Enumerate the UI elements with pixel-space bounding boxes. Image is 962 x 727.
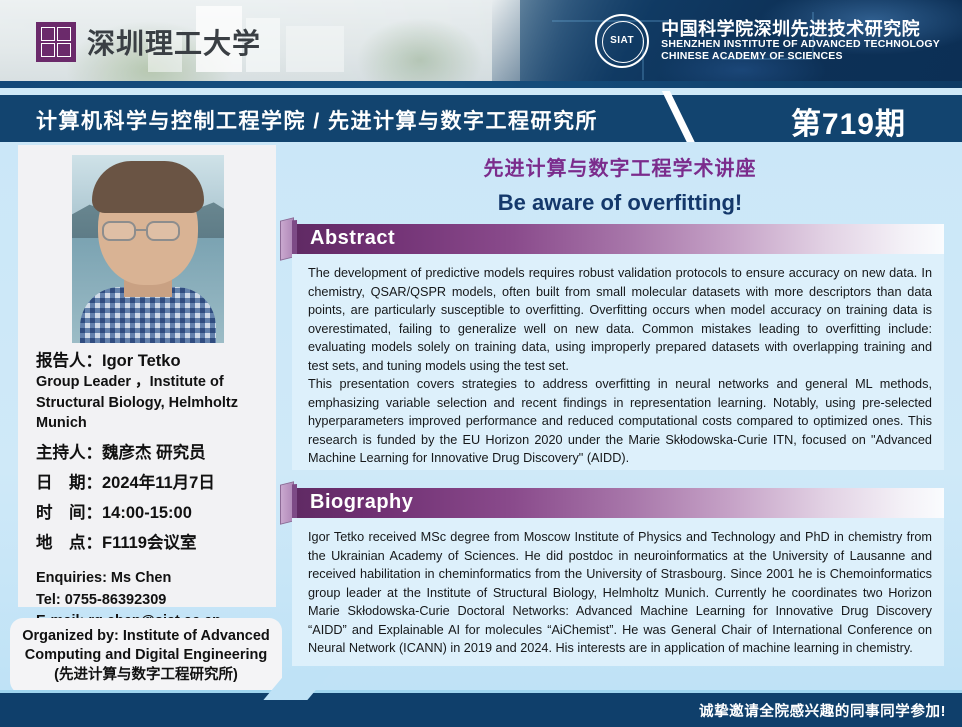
talk-title-en: Be aware of overfitting! [290,190,950,216]
seminar-poster: 深圳理工大学 SIAT 中国科学院深圳先进技术研究院 SHENZHEN INST… [0,0,962,727]
department-title-bar: 计算机科学与控制工程学院 / 先进计算与数字工程研究所 第719期 [0,95,962,142]
abstract-section-body: The development of predictive models req… [292,254,944,470]
department-name: 计算机科学与控制工程学院 / 先进计算与数字工程研究所 [36,105,598,135]
banner-bottom-rule [0,81,962,88]
siat-emblem-icon: SIAT [595,14,649,68]
speaker-info-panel: 报告人：Igor Tetko Group Leader ，Institute o… [18,145,276,607]
date-label: 日 期： [36,474,102,492]
biography-heading: Biography [310,491,413,514]
abstract-paragraph-1: The development of predictive models req… [308,264,932,375]
siat-logo: SIAT 中国科学院深圳先进技术研究院 SHENZHEN INSTITUTE O… [595,14,940,68]
institute-name-en-line2: CHINESE ACADEMY OF SCIENCES [661,51,940,63]
venue-label: 地 点： [36,534,102,552]
telephone-line: Tel: 0755-86392309 [36,590,266,611]
venue-value: F1119会议室 [102,534,196,552]
diagonal-separator [662,91,698,149]
abstract-paragraph-2: This presentation covers strategies to a… [308,375,932,468]
issue-number: 第719期 [791,99,906,143]
university-name: 深圳理工大学 [87,22,261,62]
speaker-label: 报告人： [36,352,102,370]
enquiries-line: Enquiries: Ms Chen [36,568,266,589]
organizer-line-1: Organized by: Institute of Advanced [22,627,270,646]
university-seal-icon [36,22,76,62]
organizer-box: Organized by: Institute of Advanced Comp… [10,618,282,694]
institute-name-cn: 中国科学院深圳先进技术研究院 [661,19,940,39]
speaker-affiliation: Group Leader ，Institute of Structural Bi… [36,372,266,434]
invitation-text: 诚挚邀请全院感兴趣的同事同学参加! [699,700,946,721]
biography-section-header: Biography [292,488,944,518]
date-value: 2024年11月7日 [102,474,215,492]
abstract-section-header: Abstract [292,224,944,254]
host-label: 主持人： [36,444,102,462]
footer-top-rule [0,690,962,693]
abstract-heading: Abstract [310,227,395,250]
talk-titles: 先进计算与数字工程学术讲座 Be aware of overfitting! [290,152,950,216]
organizer-line-2: Computing and Digital Engineering [25,646,267,665]
time-label: 时 间： [36,504,102,522]
speaker-details: 报告人：Igor Tetko Group Leader ，Institute o… [36,351,266,633]
top-banner: 深圳理工大学 SIAT 中国科学院深圳先进技术研究院 SHENZHEN INST… [0,0,962,88]
biography-section-body: Igor Tetko received MSc degree from Mosc… [292,518,944,666]
university-logo: 深圳理工大学 [36,22,261,62]
speaker-portrait-photo [72,155,224,343]
poster-footer: 诚挚邀请全院感兴趣的同事同学参加! [0,690,962,727]
organizer-line-3: (先进计算与数字工程研究所) [54,666,238,685]
series-title-cn: 先进计算与数字工程学术讲座 [290,152,950,181]
siat-abbr: SIAT [597,35,647,46]
speaker-name: Igor Tetko [102,352,181,370]
biography-text: Igor Tetko received MSc degree from Mosc… [308,528,932,658]
host-name: 魏彦杰 研究员 [102,444,206,462]
time-value: 14:00-15:00 [102,504,192,522]
